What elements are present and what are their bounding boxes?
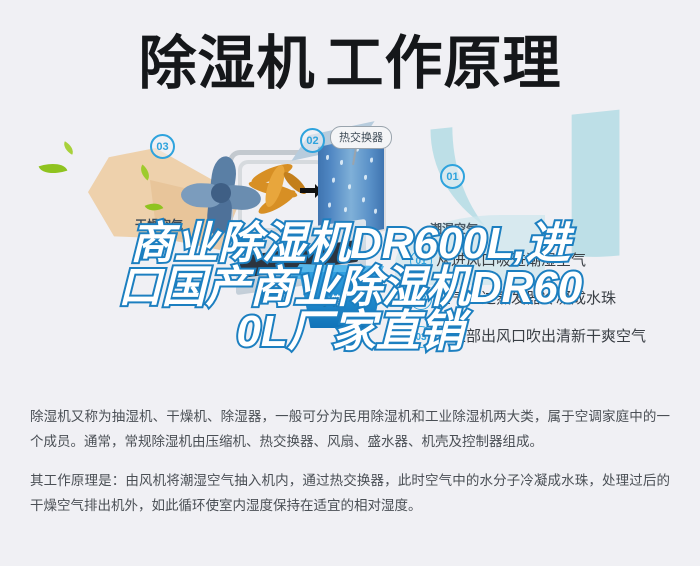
watermark-overlay-title: 商业除湿机DR600L,进 口国产商业除湿机DR60 0L厂家直销 [0,222,700,354]
page-title-part2: 工作原理 [326,31,562,96]
leaf-icon [61,141,76,154]
leaf-icon [39,158,68,178]
watermark-line-2: 口国产商业除湿机DR60 [0,266,700,310]
heat-exchanger-callout: 热交换器 [330,126,392,149]
diagram-badge-01: 01 [440,164,465,189]
watermark-line-3: 0L厂家直销 [0,310,700,354]
paragraph-definition: 除湿机又称为抽湿机、干燥机、除湿器，一般可分为民用除湿机和工业除湿机两大类，属于… [30,404,670,454]
article-body: 除湿机又称为抽湿机、干燥机、除湿器，一般可分为民用除湿机和工业除湿机两大类，属于… [0,404,700,518]
diagram-badge-03: 03 [150,134,175,159]
banner: 除湿机工作原理 [0,0,700,400]
fan-hub [211,183,231,203]
page-title: 除湿机工作原理 [0,33,700,95]
page-title-part1: 除湿机 [138,31,315,96]
page-root: 除湿机工作原理 [0,0,700,566]
paragraph-principle: 其工作原理是：由风机将潮湿空气抽入机内，通过热交换器，此时空气中的水分子冷凝成水… [30,468,670,518]
diagram-badge-02: 02 [300,128,325,153]
watermark-line-1: 商业除湿机DR600L,进 [0,222,700,266]
